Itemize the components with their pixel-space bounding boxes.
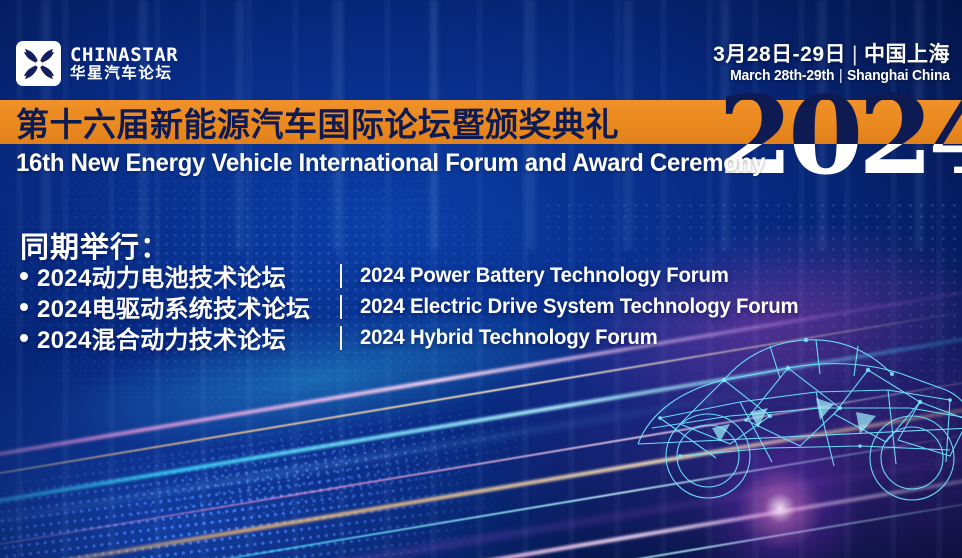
forum-name-en: 2024 Electric Drive System Technology Fo… — [360, 295, 798, 319]
brand-logo[interactable]: CHINASTAR 华星汽车论坛 — [16, 41, 178, 86]
headline-title-en: 16th New Energy Vehicle International Fo… — [16, 144, 765, 182]
divider — [340, 295, 342, 319]
forum-name-en: 2024 Power Battery Technology Forum — [360, 264, 729, 288]
divider — [340, 326, 342, 350]
bullet-icon — [20, 272, 28, 280]
forum-name-en: 2024 Hybrid Technology Forum — [360, 326, 658, 350]
date-en: March 28th-29th — [730, 67, 834, 84]
list-item: 2024混合动力技术论坛 2024 Hybrid Technology Foru… — [20, 322, 812, 353]
location-cn: 中国上海 — [864, 43, 950, 66]
list-item: 2024电驱动系统技术论坛 2024 Electric Drive System… — [20, 291, 812, 322]
bullet-icon — [20, 334, 28, 342]
event-banner: CHINASTAR 华星汽车论坛 3月28日-29日|中国上海 March 28… — [0, 0, 962, 558]
event-date-location: 3月28日-29日|中国上海 March 28th-29th|Shanghai … — [713, 43, 950, 85]
bullet-icon — [20, 303, 28, 311]
headline-title-cn: 第十六届新能源汽车国际论坛暨颁奖典礼 — [16, 100, 619, 144]
list-item: 2024动力电池技术论坛 2024 Power Battery Technolo… — [20, 260, 812, 291]
location-en: Shanghai China — [847, 67, 950, 84]
date-separator-cn: | — [852, 43, 858, 66]
forum-name-cn: 2024电驱动系统技术论坛 — [37, 289, 310, 324]
concurrent-forum-list: 2024动力电池技术论坛 2024 Power Battery Technolo… — [20, 260, 812, 353]
date-cn: 3月28日-29日 — [713, 43, 846, 66]
forum-name-cn: 2024动力电池技术论坛 — [37, 258, 286, 293]
brand-name-en: CHINASTAR — [70, 46, 178, 65]
pinwheel-star-icon — [16, 41, 61, 86]
forum-name-cn: 2024混合动力技术论坛 — [37, 320, 286, 355]
brand-name-cn: 华星汽车论坛 — [70, 66, 178, 82]
divider — [340, 264, 342, 288]
date-separator-en: | — [839, 67, 842, 84]
